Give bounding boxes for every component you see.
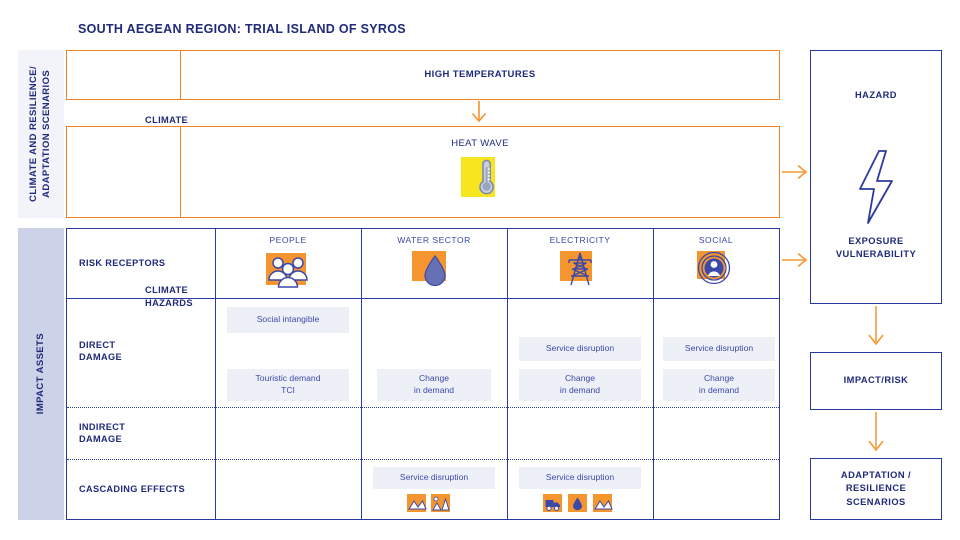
buildings-icon bbox=[593, 494, 612, 512]
chip-direct-people-2: Touristic demand TCI bbox=[227, 369, 349, 401]
arrow-down-icon bbox=[865, 412, 887, 456]
water-drop-small-icon bbox=[568, 494, 587, 512]
buildings-icon bbox=[407, 494, 426, 512]
row-label-cascading-effects: CASCADING EFFECTS bbox=[79, 483, 185, 495]
cell-risk-receptor-social: SOCIAL bbox=[653, 229, 779, 298]
industry-icon bbox=[431, 494, 450, 512]
cell-risk-receptor-water: WATER SECTOR bbox=[361, 229, 507, 298]
row-label-indirect-damage: INDIRECT DAMAGE bbox=[79, 421, 125, 446]
climate-variables-value-cell: HIGH TEMPERATURES bbox=[180, 50, 780, 100]
chip-cascading-electricity-1: Service disruption bbox=[519, 467, 641, 489]
heat-wave-text: HEAT WAVE bbox=[181, 138, 779, 149]
matrix-row-divider bbox=[67, 298, 779, 299]
chip-direct-electricity-2: Change in demand bbox=[519, 369, 641, 401]
chip-cascading-water-1: Service disruption bbox=[373, 467, 495, 489]
sidebar-impact-assets: IMPACT ASSETS bbox=[18, 228, 64, 520]
column-header-electricity: ELECTRICITY bbox=[507, 235, 653, 245]
matrix-row-divider-dotted bbox=[67, 407, 779, 408]
chip-direct-electricity-1: Service disruption bbox=[519, 337, 641, 361]
impact-risk-title: IMPACT/RISK bbox=[844, 374, 909, 387]
adaptation-scenarios-title: ADAPTATION / RESILIENCE SCENARIOS bbox=[841, 469, 911, 508]
arrow-right-icon bbox=[782, 163, 810, 181]
column-header-people: PEOPLE bbox=[215, 235, 361, 245]
row-label-risk-receptors: RISK RECEPTORS bbox=[79, 257, 165, 269]
column-header-water-sector: WATER SECTOR bbox=[361, 235, 507, 245]
arrow-down-icon bbox=[466, 100, 492, 126]
column-header-social: SOCIAL bbox=[653, 235, 779, 245]
adaptation-scenarios-box: ADAPTATION / RESILIENCE SCENARIOS bbox=[810, 458, 942, 520]
chip-direct-social-2: Change in demand bbox=[663, 369, 775, 401]
chip-direct-water-1: Change in demand bbox=[377, 369, 491, 401]
cascading-water-icons bbox=[407, 492, 463, 519]
chip-direct-people-1: Social intangible bbox=[227, 307, 349, 333]
sidebar-climate-scenarios: CLIMATE AND RESILIENCE/ADAPTATION SCENAR… bbox=[18, 50, 64, 218]
chip-direct-social-1: Service disruption bbox=[663, 337, 775, 361]
social-person-icon bbox=[692, 249, 740, 294]
climate-hazards-value-cell: HEAT WAVE bbox=[180, 126, 780, 218]
sidebar-impact-assets-label: IMPACT ASSETS bbox=[35, 333, 48, 414]
truck-icon bbox=[543, 494, 562, 512]
hazard-title: HAZARD bbox=[855, 89, 897, 102]
impact-matrix: RISK RECEPTORS DIRECT DAMAGE INDIRECT DA… bbox=[66, 228, 780, 520]
matrix-row-divider-dotted bbox=[67, 459, 779, 460]
cascading-electricity-icons bbox=[543, 492, 621, 519]
page-title: SOUTH AEGEAN REGION: TRIAL ISLAND OF SYR… bbox=[78, 22, 406, 36]
high-temperatures-text: HIGH TEMPERATURES bbox=[181, 69, 779, 80]
hazard-exposure-box: HAZARD EXPOSURE VULNERABILITY bbox=[810, 50, 942, 304]
water-drop-icon bbox=[410, 249, 458, 294]
people-icon bbox=[264, 249, 312, 294]
climate-hazards-label-cell: CLIMATE HAZARDS bbox=[66, 126, 182, 218]
lightning-bolt-icon bbox=[811, 147, 941, 227]
cell-risk-receptor-people: PEOPLE bbox=[215, 229, 361, 298]
cell-risk-receptor-electricity: ELECTRICITY bbox=[507, 229, 653, 298]
exposure-vulnerability-title: EXPOSURE VULNERABILITY bbox=[811, 235, 941, 261]
row-label-direct-damage: DIRECT DAMAGE bbox=[79, 339, 122, 364]
arrow-down-icon bbox=[865, 306, 887, 350]
sidebar-climate-scenarios-label: CLIMATE AND RESILIENCE/ADAPTATION SCENAR… bbox=[28, 66, 54, 202]
arrow-right-icon bbox=[782, 251, 810, 269]
climate-variables-label-cell: CLIMATE VARIABLES bbox=[66, 50, 182, 100]
impact-risk-box: IMPACT/RISK bbox=[810, 352, 942, 410]
thermometer-icon bbox=[457, 153, 505, 206]
power-pylon-icon bbox=[556, 249, 604, 294]
